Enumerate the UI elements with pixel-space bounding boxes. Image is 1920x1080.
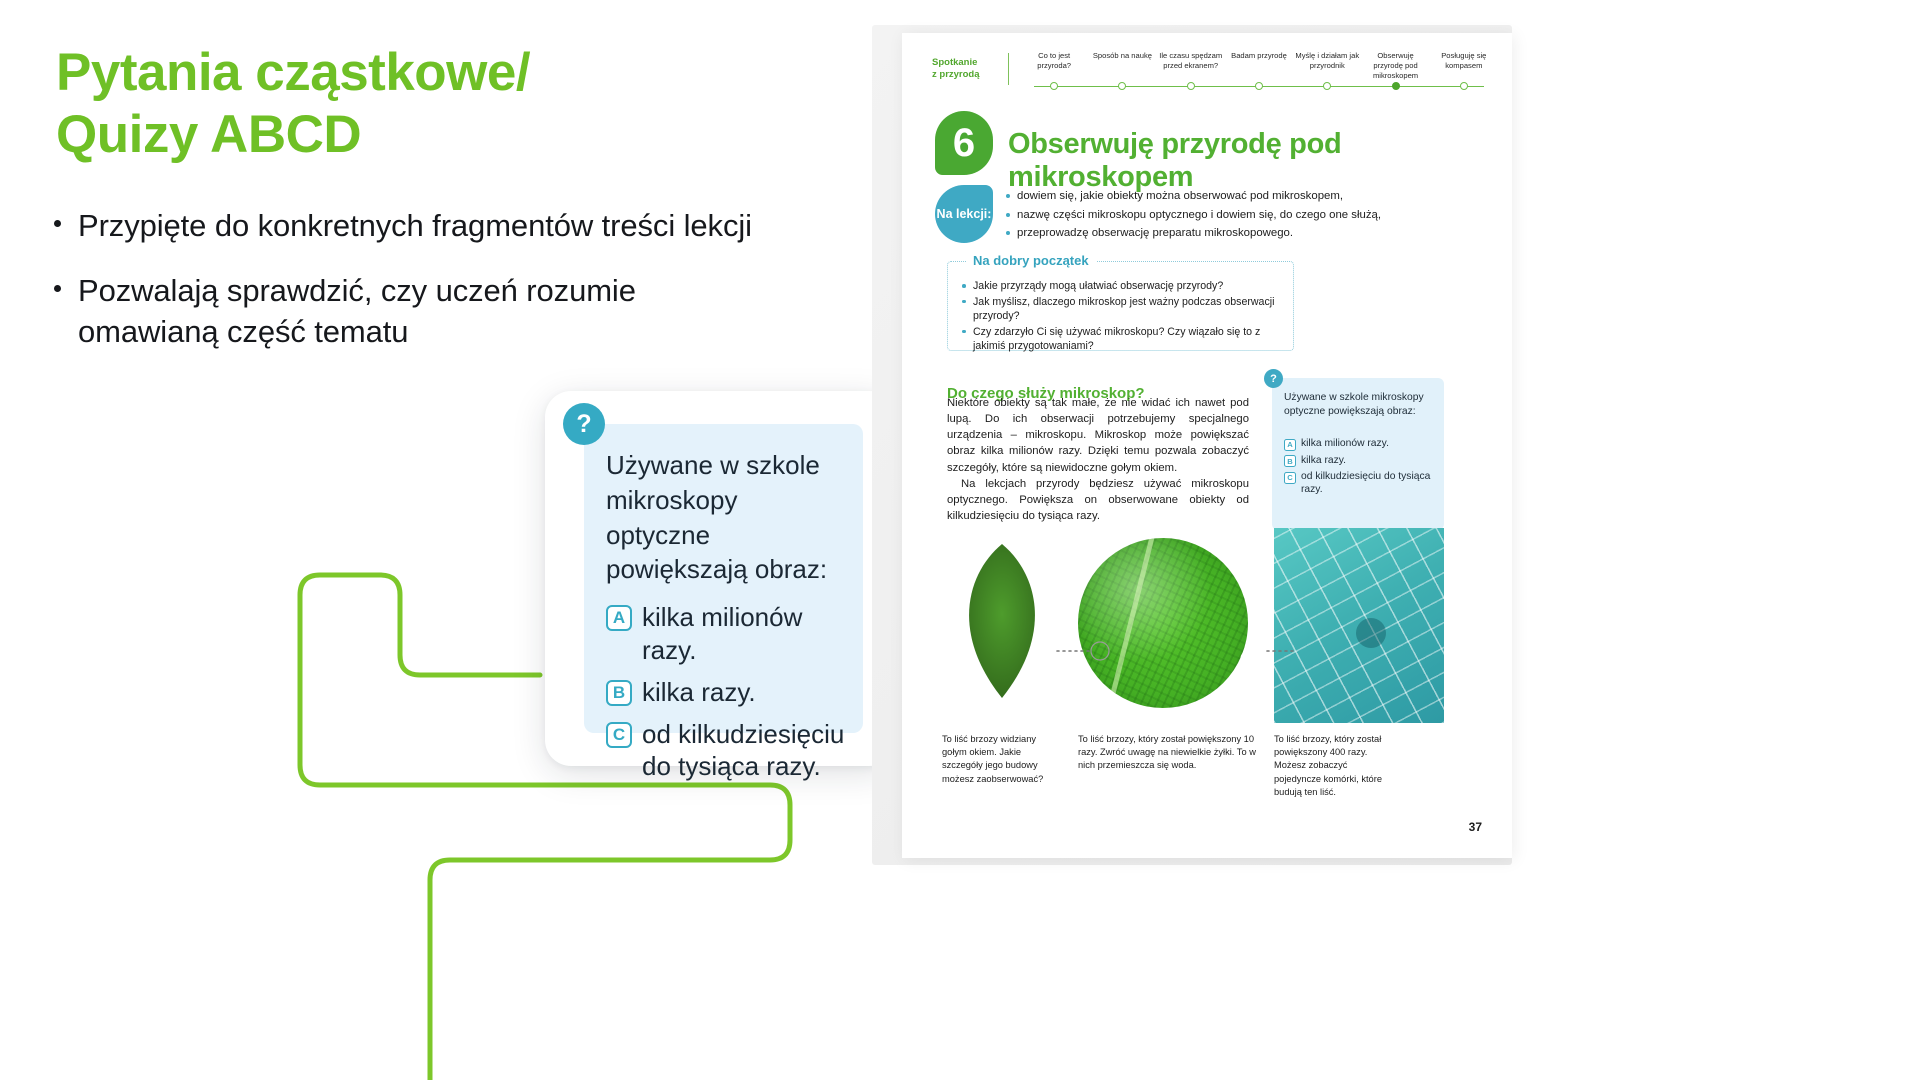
option-label: od kilkudziesięciu do tysiąca razy.	[1301, 470, 1436, 497]
margin-quiz-option-b[interactable]: B kilka razy.	[1284, 454, 1436, 468]
breadcrumb-step-2[interactable]: Sposób na naukę	[1088, 51, 1156, 81]
breadcrumb-steps: Co to jest przyroda? Sposób na naukę Ile…	[1020, 51, 1498, 81]
option-letter-badge: B	[606, 680, 632, 706]
option-letter-badge: A	[606, 605, 632, 631]
quiz-option-c[interactable]: C od kilkudziesięciu do tysiąca razy.	[606, 718, 845, 784]
leaf-image	[942, 538, 1062, 728]
list-item: Przypięte do konkretnych fragmentów treś…	[52, 205, 752, 246]
breadcrumb-step-label: Badam przyrodę	[1225, 51, 1293, 73]
na-lekcji-badge: Na lekcji:	[935, 185, 993, 243]
option-letter-badge: C	[606, 722, 632, 748]
quiz-option-a[interactable]: A kilka milionów razy.	[606, 601, 845, 667]
figure-caption-3: To liść brzozy, który został powiększony…	[1274, 733, 1394, 799]
quiz-question-text: Używane w szkole mikroskopy optyczne pow…	[606, 448, 845, 587]
option-label: od kilkudziesięciu do tysiąca razy.	[642, 718, 845, 784]
figure-caption-2: To liść brzozy, który został powiększony…	[1078, 733, 1263, 773]
list-item: Jakie przyrządy mogą ułatwiać obserwację…	[962, 279, 1283, 294]
breadcrumb-step-7[interactable]: Posługuję się kompasem	[1430, 51, 1498, 81]
breadcrumb-step-label: Co to jest przyroda?	[1020, 51, 1088, 73]
question-mark-icon: ?	[563, 403, 605, 445]
quiz-option-b[interactable]: B kilka razy.	[606, 676, 845, 709]
figure-dotted-connector	[1052, 593, 1452, 673]
breadcrumb-dot-icon	[1255, 82, 1263, 90]
textbook-page-preview[interactable]: Spotkanie z przyrodą Co to jest przyroda…	[902, 33, 1512, 858]
list-item: przeprowadzę obserwację preparatu mikros…	[1006, 225, 1482, 242]
list-item: Pozwalają sprawdzić, czy uczeń rozumie o…	[52, 270, 752, 352]
option-label: kilka razy.	[1301, 454, 1346, 467]
margin-quiz-question: Używane w szkole mikroskopy optyczne pow…	[1284, 391, 1434, 419]
breadcrumb-brand-line2: z przyrodą	[932, 69, 980, 80]
warmup-box: Na dobry początek Jakie przyrządy mogą u…	[947, 261, 1294, 351]
quiz-options-list: A kilka milionów razy. B kilka razy. C o…	[606, 601, 845, 783]
slide-bullet-list: Przypięte do konkretnych fragmentów treś…	[52, 205, 752, 377]
figure-caption-1: To liść brzozy widziany gołym okiem. Jak…	[942, 733, 1062, 786]
slide-left-panel: Pytania cząstkowe/ Quizy ABCD Przypięte …	[0, 0, 900, 1080]
warmup-box-title: Na dobry początek	[966, 253, 1096, 268]
chapter-title: Obserwuję przyrodę pod mikroskopem	[1008, 128, 1458, 194]
breadcrumb-step-3[interactable]: Ile czasu spędzam przed ekranem?	[1157, 51, 1225, 81]
option-label: kilka milionów razy.	[642, 601, 845, 667]
breadcrumb-dot-icon	[1118, 82, 1126, 90]
option-label: kilka milionów razy.	[1301, 437, 1389, 450]
margin-quiz-option-a[interactable]: A kilka milionów razy.	[1284, 437, 1436, 451]
option-letter-badge: A	[1284, 439, 1296, 451]
list-item: Jak myślisz, dlaczego mikroskop jest waż…	[962, 295, 1283, 324]
breadcrumb-step-label: Myślę i działam jak przyrodnik	[1293, 51, 1361, 73]
margin-quiz-box[interactable]: ? Używane w szkole mikroskopy optyczne p…	[1272, 378, 1444, 530]
breadcrumb-step-1[interactable]: Co to jest przyroda?	[1020, 51, 1088, 81]
quiz-callout-card[interactable]: ? Używane w szkole mikroskopy optyczne p…	[545, 391, 895, 766]
breadcrumb-step-5[interactable]: Myślę i działam jak przyrodnik	[1293, 51, 1361, 81]
question-mark-icon: ?	[1264, 369, 1283, 388]
option-letter-badge: C	[1284, 472, 1296, 484]
breadcrumb-dot-icon	[1460, 82, 1468, 90]
quiz-callout-body: Używane w szkole mikroskopy optyczne pow…	[584, 424, 863, 733]
breadcrumb-dot-icon	[1187, 82, 1195, 90]
list-item: Czy zdarzyło Ci się używać mikroskopu? C…	[962, 325, 1283, 354]
breadcrumb-brand-line1: Spotkanie	[932, 57, 977, 68]
page-title-line2: Quizy ABCD	[56, 104, 716, 166]
breadcrumb-dot-icon	[1050, 82, 1058, 90]
option-label: kilka razy.	[642, 676, 756, 709]
breadcrumb-step-label: Ile czasu spędzam przed ekranem?	[1157, 51, 1225, 73]
breadcrumb-step-label: Obserwuję przyrodę pod mikroskopem	[1361, 51, 1429, 81]
breadcrumb-step-6-active[interactable]: Obserwuję przyrodę pod mikroskopem	[1361, 51, 1429, 81]
figure-leaf-naked-eye	[942, 538, 1062, 728]
breadcrumb-brand: Spotkanie z przyrodą	[932, 57, 1000, 81]
breadcrumb-dot-icon-active	[1392, 82, 1400, 90]
page-title-line1: Pytania cząstkowe/	[56, 43, 530, 102]
margin-quiz-options: A kilka milionów razy. B kilka razy. C o…	[1284, 437, 1436, 500]
breadcrumb-track: Co to jest przyroda? Sposób na naukę Ile…	[1020, 51, 1498, 95]
breadcrumb-step-label: Sposób na naukę	[1088, 51, 1156, 73]
margin-quiz-option-c[interactable]: C od kilkudziesięciu do tysiąca razy.	[1284, 470, 1436, 497]
section-body-text: Niektóre obiekty są tak małe, że nie wid…	[947, 395, 1249, 524]
paragraph: Na lekcjach przyrody będziesz używać mik…	[947, 476, 1249, 524]
breadcrumb-dot-icon	[1323, 82, 1331, 90]
option-letter-badge: B	[1284, 455, 1296, 467]
breadcrumb: Spotkanie z przyrodą Co to jest przyroda…	[932, 51, 1498, 95]
page-title: Pytania cząstkowe/ Quizy ABCD	[56, 42, 716, 166]
page-number: 37	[1469, 820, 1482, 834]
list-item: nazwę części mikroskopu optycznego i dow…	[1006, 207, 1482, 224]
chapter-number-badge: 6	[935, 111, 993, 175]
paragraph: Niektóre obiekty są tak małe, że nie wid…	[947, 395, 1249, 476]
lesson-goals-list: dowiem się, jakie obiekty można obserwow…	[1006, 188, 1482, 244]
list-item: dowiem się, jakie obiekty można obserwow…	[1006, 188, 1482, 205]
breadcrumb-step-label: Posługuję się kompasem	[1430, 51, 1498, 73]
warmup-question-list: Jakie przyrządy mogą ułatwiać obserwację…	[962, 279, 1283, 355]
breadcrumb-step-4[interactable]: Badam przyrodę	[1225, 51, 1293, 81]
breadcrumb-divider	[1008, 53, 1009, 85]
